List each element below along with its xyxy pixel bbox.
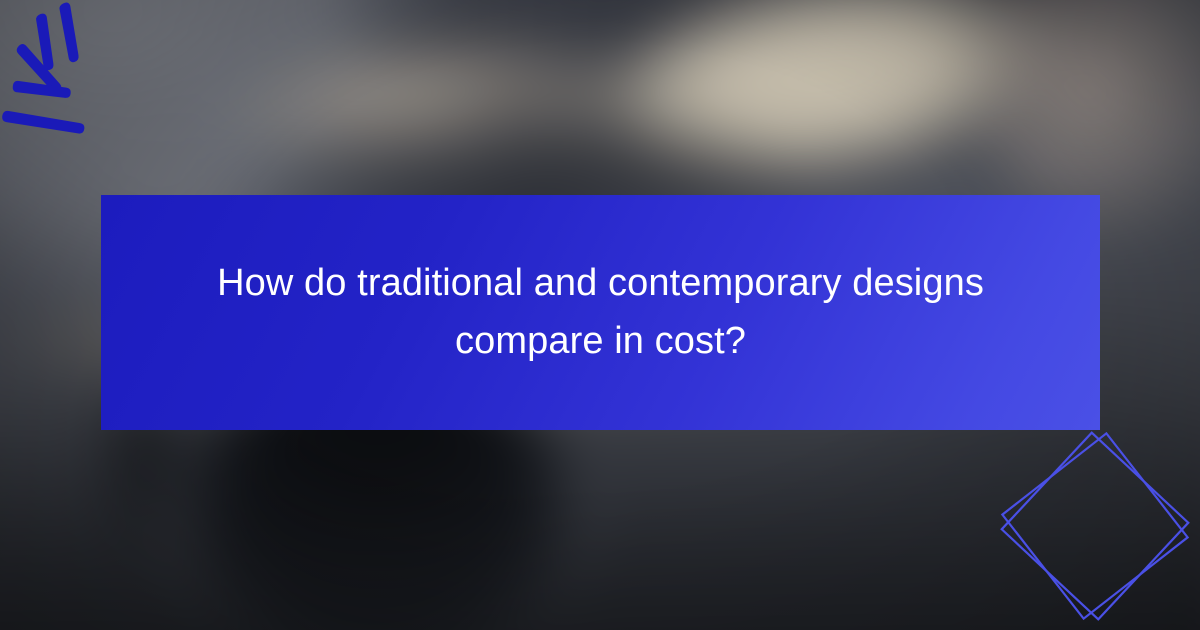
question-title: How do traditional and contemporary desi…	[201, 255, 1001, 371]
rotated-square-outlines-decoration	[985, 418, 1200, 630]
question-card: How do traditional and contemporary desi…	[0, 0, 1200, 630]
question-banner: How do traditional and contemporary desi…	[101, 195, 1100, 430]
sparkle-burst-icon	[0, 0, 170, 170]
square-outline-front	[1002, 433, 1187, 618]
square-outline-back	[1002, 433, 1189, 620]
